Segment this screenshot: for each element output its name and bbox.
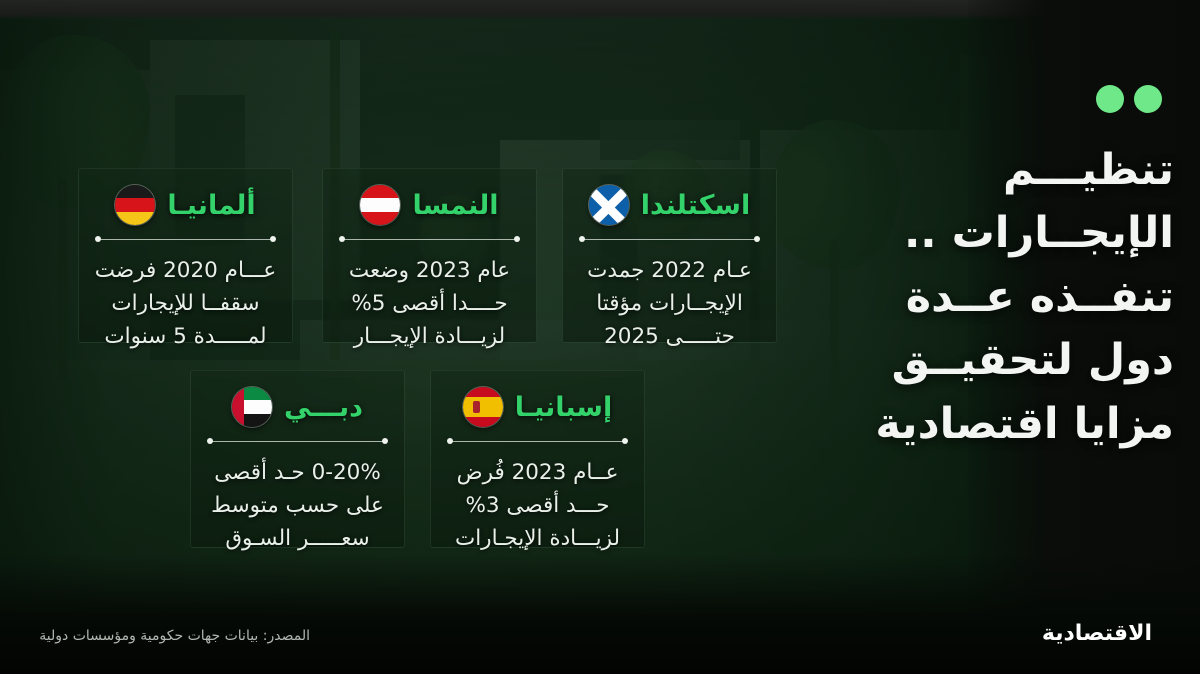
card-body-text: 0-20% حـد أقصى على حسب متوسط سعـــــر ال… — [205, 457, 390, 556]
card-body-text: عـــام 2020 فرضت سقفــا للإيجارات لمــــ… — [93, 255, 278, 354]
brand-logo: الاقتصادية — [1042, 621, 1152, 646]
spain-flag-icon — [463, 387, 503, 427]
card-divider — [447, 437, 628, 447]
accent-dots — [1096, 85, 1162, 113]
divider-dot-right — [622, 438, 628, 444]
country-name: النمسا — [412, 190, 498, 221]
uae-flag-icon — [232, 387, 272, 427]
austria-flag-icon — [360, 185, 400, 225]
accent-dot — [1134, 85, 1162, 113]
card-divider — [95, 235, 276, 245]
divider-dot-right — [270, 236, 276, 242]
card-header: اسكتلندا — [577, 179, 762, 231]
title-line-4: دول لتحقيــق — [834, 330, 1174, 391]
title-line-3: تنفــذه عــدة — [834, 267, 1174, 328]
country-name: دبـــي — [284, 392, 363, 423]
page-title: تنظيـــم الإيجــارات .. تنفــذه عــدة دو… — [834, 140, 1174, 457]
divider-dot-right — [382, 438, 388, 444]
divider-line — [100, 239, 271, 240]
divider-dot-right — [754, 236, 760, 242]
title-line-5: مزايا اقتصادية — [834, 394, 1174, 455]
divider-line — [584, 239, 755, 240]
card-austria[interactable]: النمسا عام 2023 وضعت حــــدا أقصى 5% لزي… — [322, 168, 537, 343]
card-dubai[interactable]: دبـــي 0-20% حـد أقصى على حسب متوسط سعــ… — [190, 370, 405, 548]
card-header: النمسا — [337, 179, 522, 231]
title-line-2: الإيجــارات .. — [834, 203, 1174, 264]
divider-dot-right — [514, 236, 520, 242]
divider-line — [452, 441, 623, 442]
source-note: المصدر: بيانات جهات حكومية ومؤسسات دولية — [39, 628, 310, 644]
card-header: ألمانيـا — [93, 179, 278, 231]
divider-line — [212, 441, 383, 442]
country-name: اسكتلندا — [641, 190, 750, 221]
card-germany[interactable]: ألمانيـا عـــام 2020 فرضت سقفــا للإيجار… — [78, 168, 293, 343]
scotland-flag-icon — [589, 185, 629, 225]
country-name: ألمانيـا — [167, 190, 255, 221]
divider-line — [344, 239, 515, 240]
country-name: إسبانيـا — [515, 392, 613, 423]
card-divider — [207, 437, 388, 447]
card-spain[interactable]: إسبانيـا عــام 2023 فُرض حـــد أقصى 3% ل… — [430, 370, 645, 548]
card-divider — [579, 235, 760, 245]
germany-flag-icon — [115, 185, 155, 225]
bottom-fade — [0, 554, 1200, 674]
card-body-text: عــام 2023 فُرض حـــد أقصى 3% لزيـــادة … — [445, 457, 630, 556]
card-body-text: عـام 2022 جمدت الإيجــارات مؤقتا حتـــــ… — [577, 255, 762, 354]
card-body-text: عام 2023 وضعت حــــدا أقصى 5% لزيـــادة … — [337, 255, 522, 354]
card-header: إسبانيـا — [445, 381, 630, 433]
card-divider — [339, 235, 520, 245]
card-scotland[interactable]: اسكتلندا عـام 2022 جمدت الإيجــارات مؤقت… — [562, 168, 777, 343]
card-header: دبـــي — [205, 381, 390, 433]
infographic-canvas: تنظيـــم الإيجــارات .. تنفــذه عــدة دو… — [0, 0, 1200, 674]
title-line-1: تنظيـــم — [834, 140, 1174, 201]
accent-dot — [1096, 85, 1124, 113]
